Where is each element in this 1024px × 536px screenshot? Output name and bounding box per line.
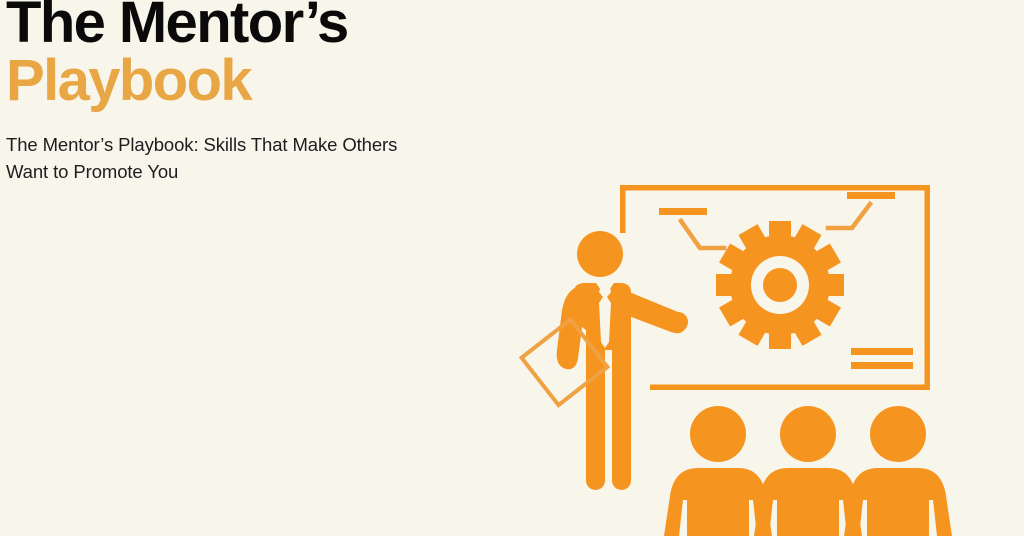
diagram-connector-left	[659, 208, 724, 248]
presenter-figure	[557, 231, 688, 490]
audience-figure-2	[754, 406, 862, 536]
page-title-line-2: Playbook	[6, 52, 251, 110]
board-text-lines	[851, 348, 913, 369]
mentor-illustration	[510, 170, 980, 536]
audience-figure-1	[664, 406, 772, 536]
page-title-line-1: The Mentor’s	[6, 0, 348, 52]
diagram-connector-right	[828, 192, 895, 228]
audience-figure-3	[844, 406, 952, 536]
page-root: The Mentor’s Playbook The Mentor’s Playb…	[0, 0, 1024, 536]
gear-icon	[716, 221, 844, 349]
page-subtitle: The Mentor’s Playbook: Skills That Make …	[6, 131, 436, 185]
